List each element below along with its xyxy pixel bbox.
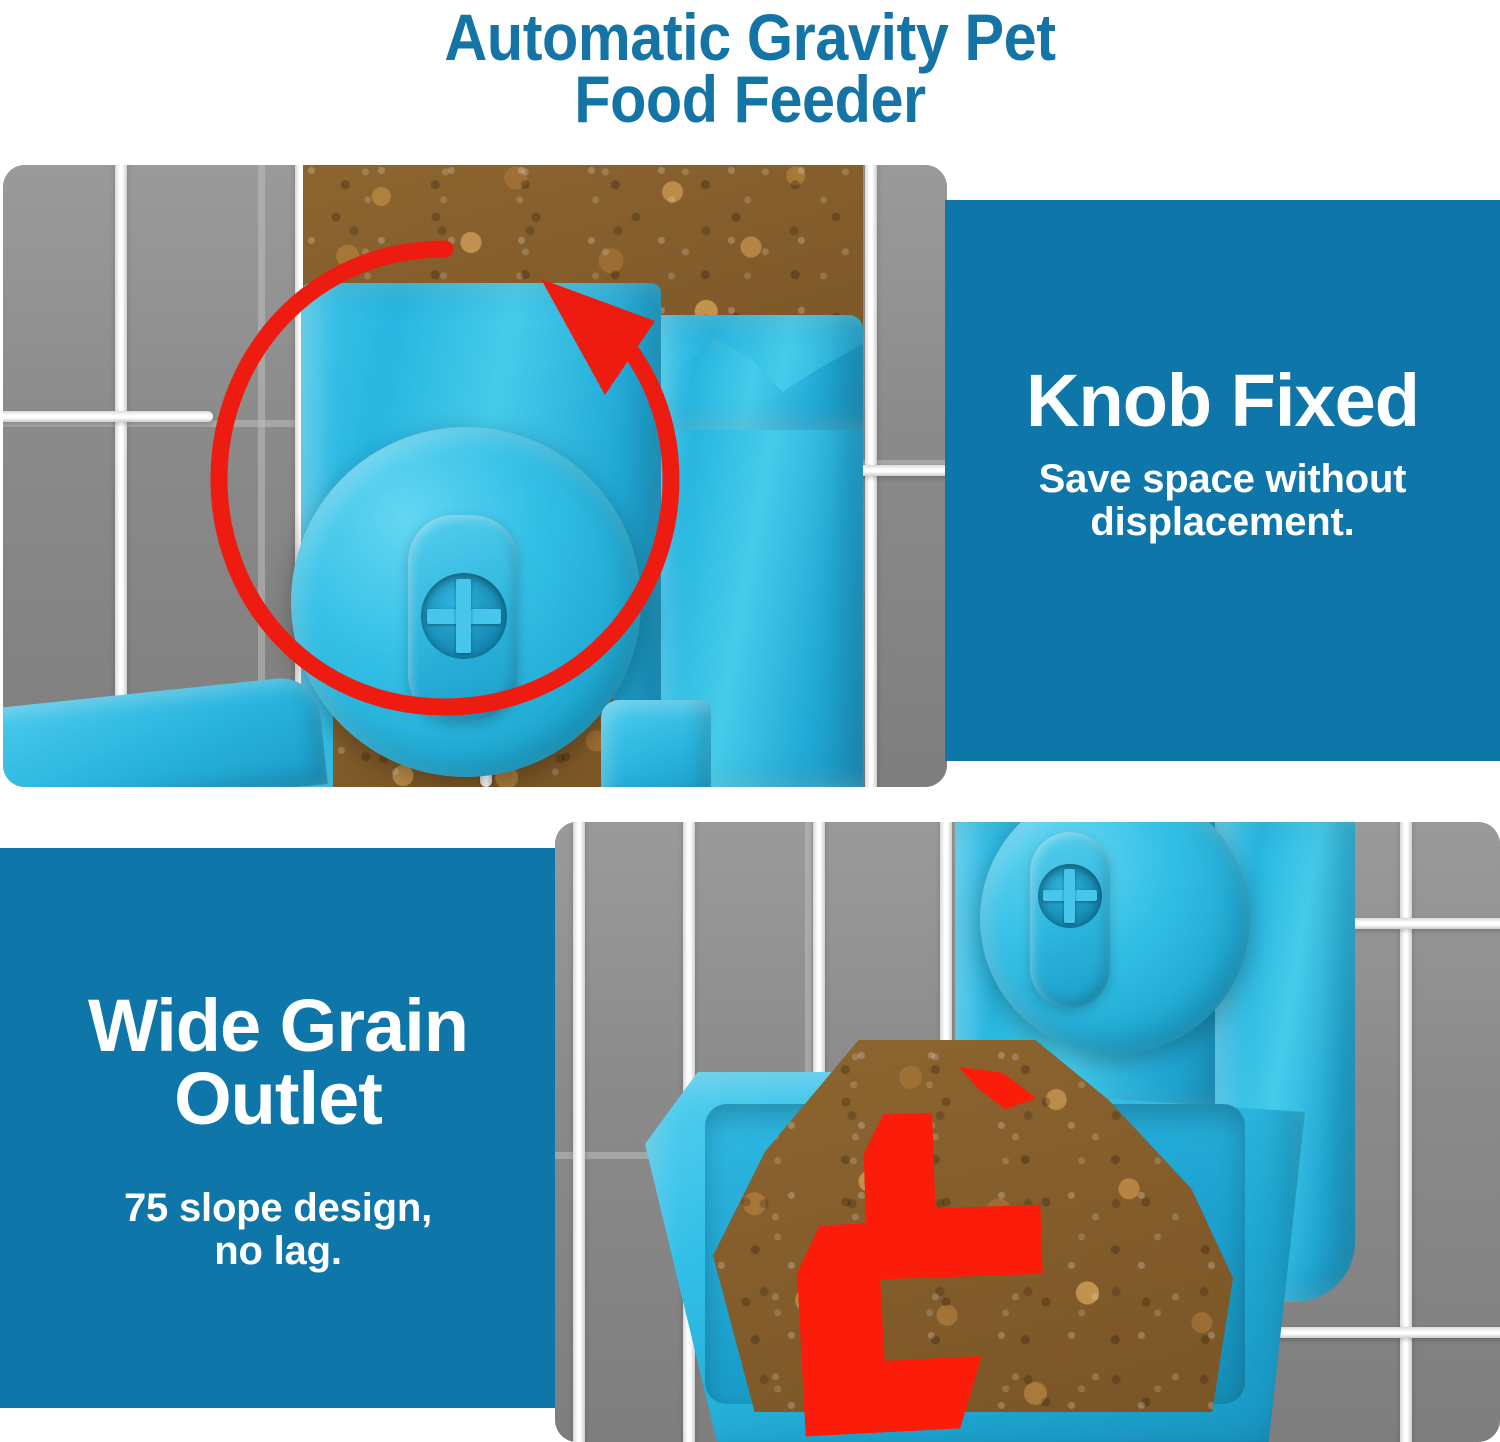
knob-feature-photo: [3, 165, 947, 787]
outlet-feature-photo: [555, 822, 1500, 1442]
cage-wire-vertical: [1400, 822, 1412, 1442]
outlet-headline-line-2: Outlet: [174, 1057, 382, 1140]
outlet-subtext-line-1: 75 slope design,: [124, 1186, 432, 1230]
knob-cross-bar-vertical: [1064, 869, 1075, 923]
cage-wire-vertical: [865, 165, 877, 787]
outlet-subtext-line-2: no lag.: [214, 1229, 342, 1273]
outlet-feature-subtext: 75 slope design, no lag.: [24, 1187, 532, 1273]
outlet-headline-line-1: Wide Grain: [88, 984, 468, 1067]
outlet-feature-headline: Wide Grain Outlet: [24, 990, 532, 1135]
page-title: Automatic Gravity Pet Food Feeder: [0, 6, 1500, 130]
page-title-line-1: Automatic Gravity Pet: [75, 6, 1425, 68]
page-title-line-2: Food Feeder: [75, 68, 1425, 130]
knob-feature-panel: Knob Fixed Save space without displaceme…: [945, 200, 1500, 761]
cage-wire-horizontal: [3, 411, 213, 422]
knob-feature-headline: Knob Fixed: [969, 365, 1476, 438]
outlet-feature-text: Wide Grain Outlet 75 slope design, no la…: [0, 990, 556, 1273]
knob-cross-bar-vertical: [456, 579, 471, 653]
feeder-tray-lip-right: [601, 700, 711, 787]
knob-feature-text: Knob Fixed Save space without displaceme…: [945, 365, 1500, 544]
outlet-feature-panel: Wide Grain Outlet 75 slope design, no la…: [0, 848, 556, 1408]
knob-feature-subtext: Save space without displacement.: [969, 458, 1476, 544]
cage-wire-vertical: [573, 822, 585, 1442]
